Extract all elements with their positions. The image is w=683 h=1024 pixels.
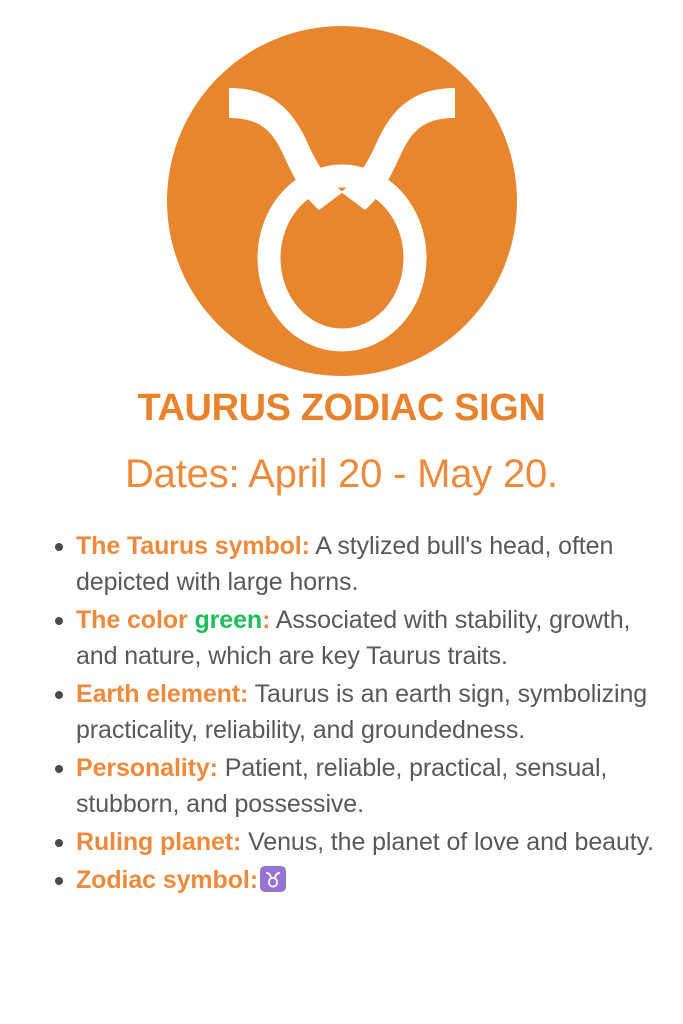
dates-subtitle: Dates: April 20 - May 20. xyxy=(0,450,683,498)
bullet-dot xyxy=(55,877,63,885)
bullet-dot xyxy=(55,691,63,699)
facts-list: The Taurus symbol: A stylized bull's hea… xyxy=(44,528,656,900)
infographic-page: TAURUS ZODIAC SIGN Dates: April 20 - May… xyxy=(0,0,683,1024)
fact-label: The Taurus symbol: xyxy=(76,532,310,560)
emblem-circle xyxy=(167,26,517,376)
list-item: Earth element: Taurus is an earth sign, … xyxy=(44,676,656,748)
list-item: The color green: Associated with stabili… xyxy=(44,602,656,674)
taurus-emblem xyxy=(0,26,683,376)
fact-label-prefix: The color xyxy=(76,606,194,634)
fact-label: Zodiac symbol: xyxy=(76,866,258,894)
taurus-symbol-badge-glyph xyxy=(263,869,283,889)
list-item: Zodiac symbol: xyxy=(44,862,656,898)
bullet-dot xyxy=(55,765,63,773)
bullet-dot xyxy=(55,839,63,847)
fact-label: The color green: xyxy=(76,606,270,634)
bullet-dot xyxy=(55,617,63,625)
fact-label: Earth element: xyxy=(76,680,248,708)
list-item: Personality: Patient, reliable, practica… xyxy=(44,750,656,822)
fact-text: Venus, the planet of love and beauty. xyxy=(241,828,654,856)
list-item: The Taurus symbol: A stylized bull's hea… xyxy=(44,528,656,600)
bullet-dot xyxy=(55,543,63,551)
fact-label-green-highlight: green xyxy=(194,606,262,634)
taurus-symbol-badge-icon xyxy=(260,866,286,892)
list-item: Ruling planet: Venus, the planet of love… xyxy=(44,824,656,860)
fact-label: Personality: xyxy=(76,754,218,782)
page-title: TAURUS ZODIAC SIGN xyxy=(0,386,683,430)
taurus-glyph-icon xyxy=(167,26,517,376)
fact-label: Ruling planet: xyxy=(76,828,241,856)
